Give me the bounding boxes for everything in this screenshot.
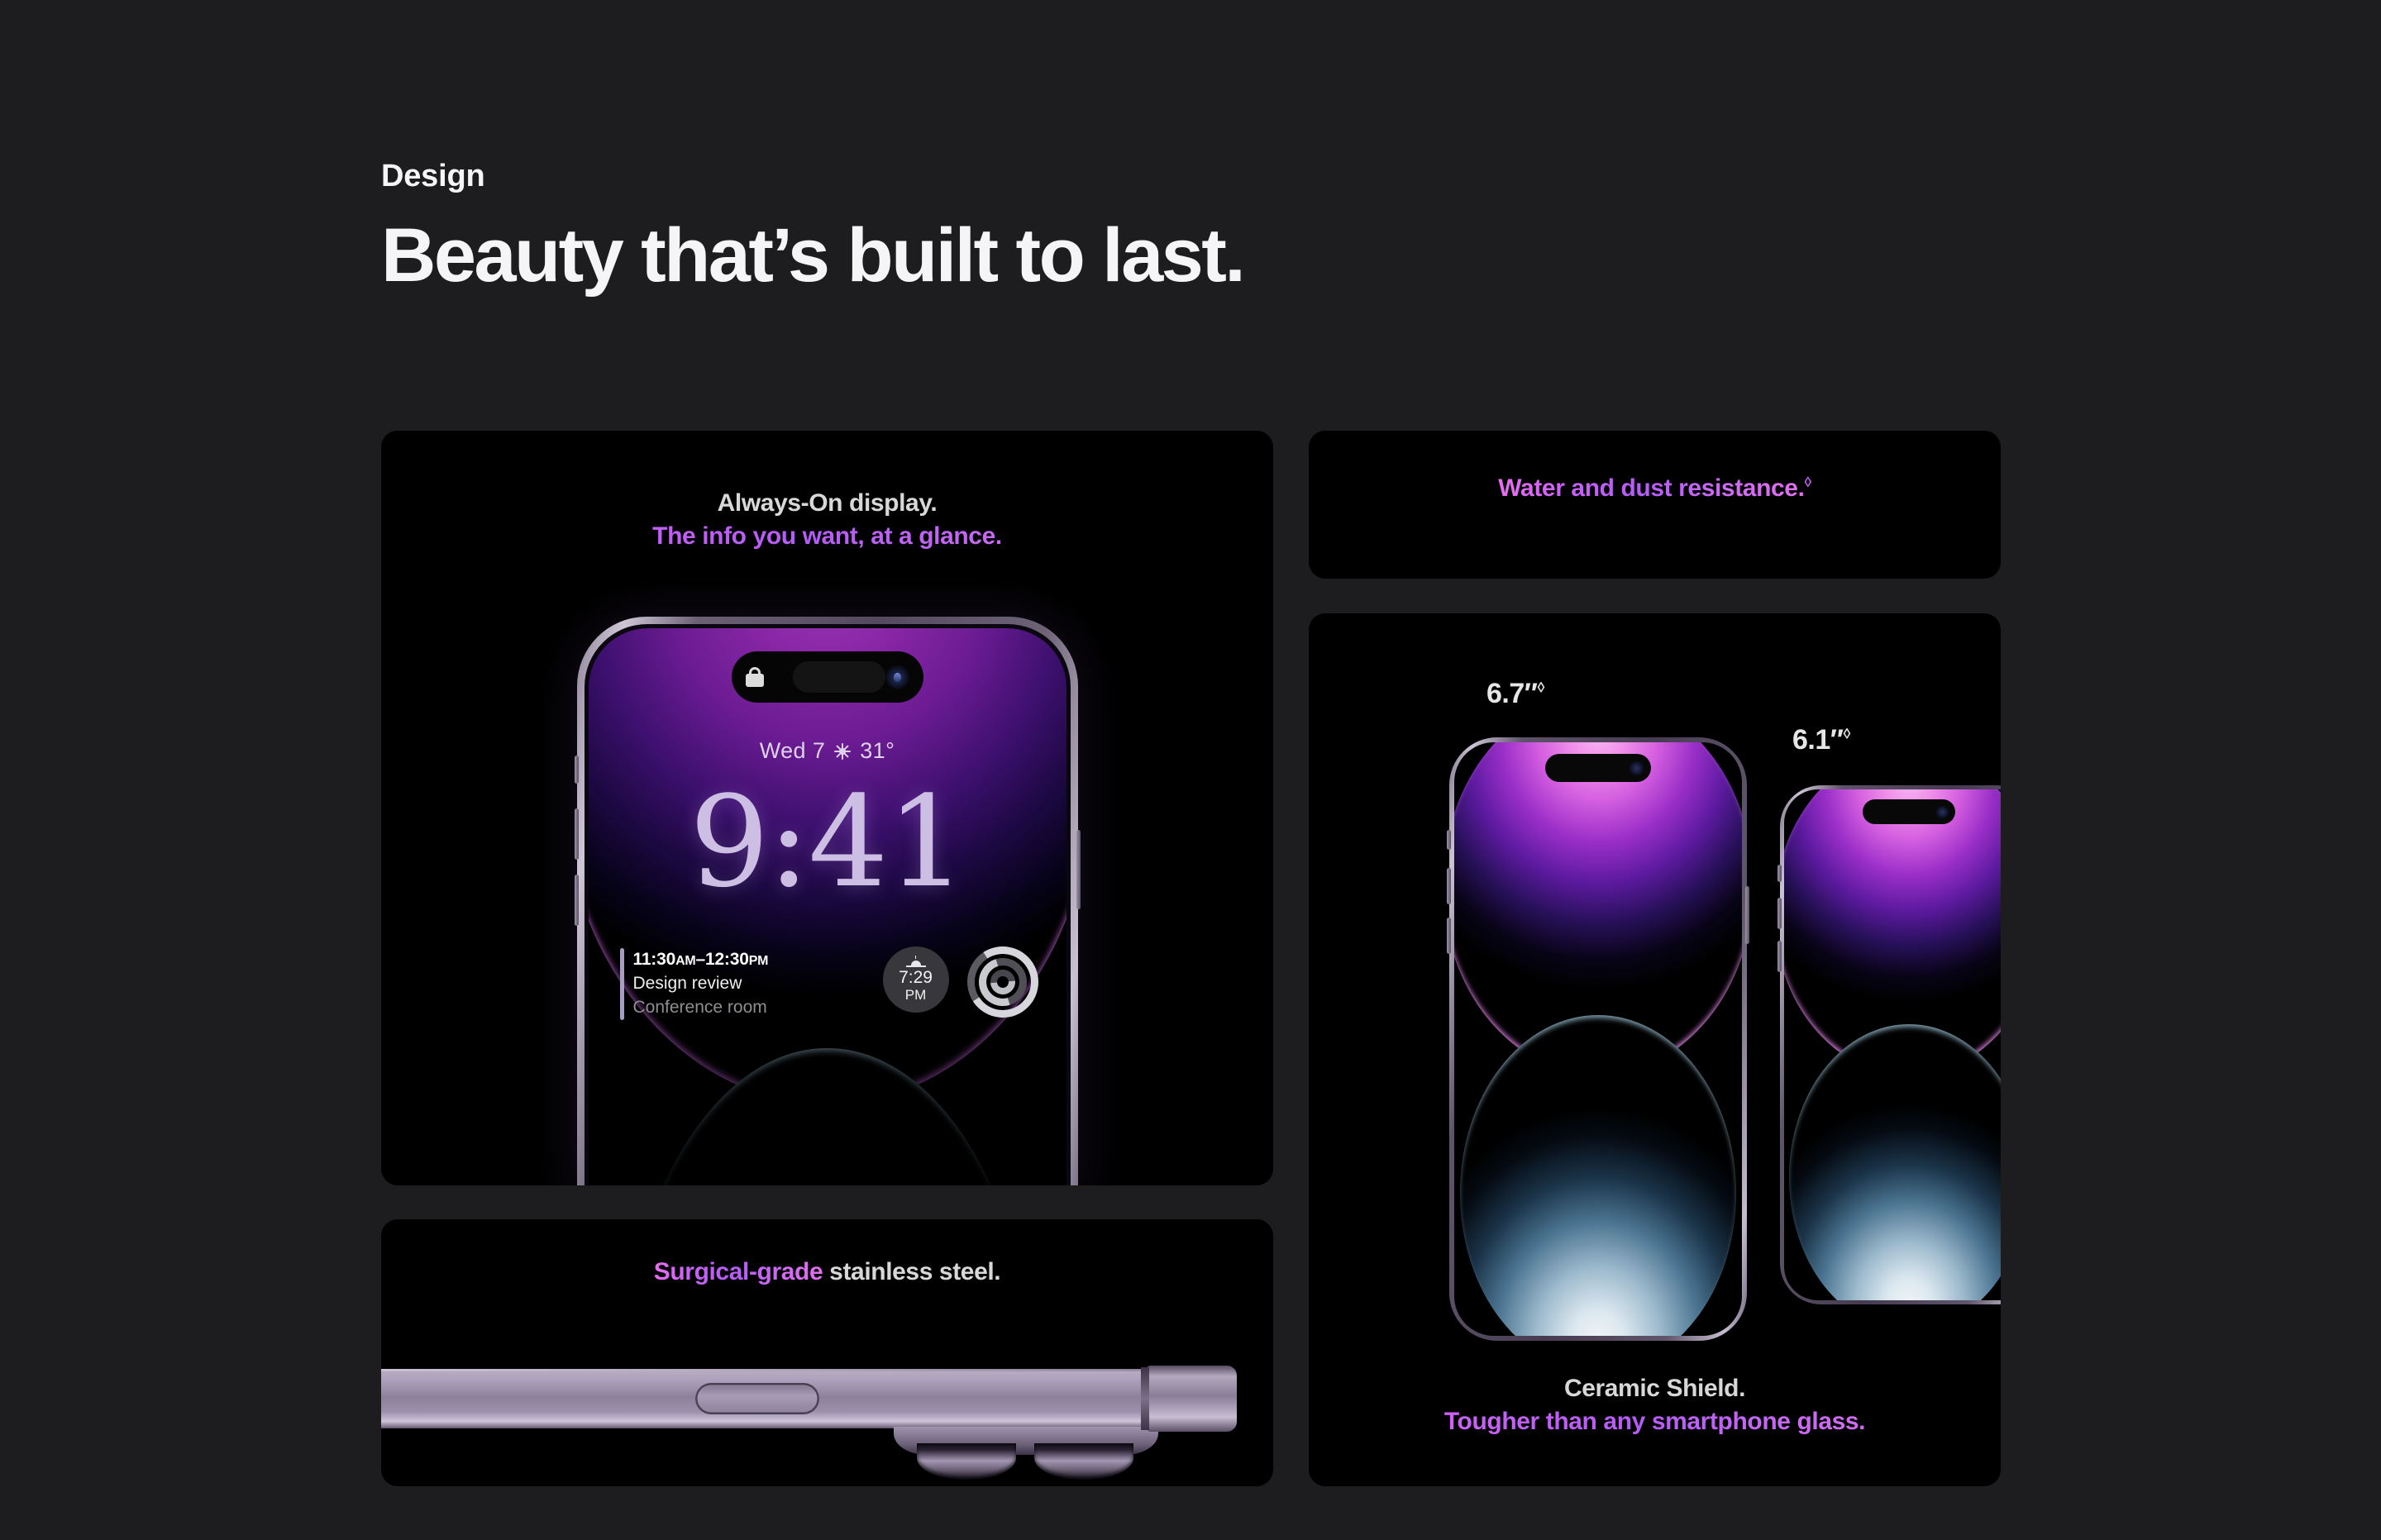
ceramic-shield-caption: Ceramic Shield. Tougher than any smartph… xyxy=(1309,1372,2001,1438)
phone-volume-up-button xyxy=(1777,898,1782,929)
wallpaper-light-dome xyxy=(1460,1015,1736,1336)
phone-display xyxy=(1454,742,1742,1336)
stainless-steel-caption-purple: Surgical-grade xyxy=(654,1258,823,1285)
lock-icon xyxy=(746,667,764,687)
ceramic-shield-caption-line1: Ceramic Shield. xyxy=(1309,1372,2001,1405)
phone-volume-down-button xyxy=(1447,918,1451,954)
iphone-mockup-always-on: Wed 7 31° 9:41 11:30AM–12:30PM Design re… xyxy=(577,617,1078,1185)
phone-volume-up-button xyxy=(575,808,579,860)
event-color-bar xyxy=(620,948,624,1020)
event-title: Design review xyxy=(633,972,769,996)
volume-button-detail xyxy=(695,1383,819,1414)
activity-rings-icon[interactable] xyxy=(967,946,1038,1018)
stainless-steel-caption-white: stainless steel. xyxy=(823,1258,1000,1285)
card-always-on-display[interactable]: Always-On display. The info you want, at… xyxy=(381,431,1273,1185)
front-camera-icon xyxy=(1936,806,1949,818)
lockscreen-temperature: 31° xyxy=(860,738,895,764)
footnote-marker-large: ◊ xyxy=(1538,679,1544,696)
phone-corner-edge xyxy=(1146,1366,1237,1432)
water-dust-caption-text: Water and dust resistance. xyxy=(1498,474,1804,502)
always-on-caption-line2: The info you want, at a glance. xyxy=(381,520,1273,553)
sunset-icon xyxy=(905,956,927,967)
iphone-side-profile-image xyxy=(381,1329,1273,1486)
lockscreen-clock: 9:41 xyxy=(589,763,1066,922)
phone-mute-switch xyxy=(1777,865,1782,882)
size-label-small: 6.1″◊ xyxy=(1792,724,1850,756)
wallpaper-light-dome xyxy=(1789,1024,2001,1300)
phone-mute-switch xyxy=(1447,830,1451,850)
dynamic-island xyxy=(1863,799,1955,824)
phone-volume-down-button xyxy=(1777,941,1782,972)
camera-lens-2 xyxy=(1034,1443,1133,1480)
lockscreen-date: Wed 7 xyxy=(760,738,826,764)
sunset-widget[interactable]: 7:29 PM xyxy=(883,946,949,1013)
phone-bezel xyxy=(1454,742,1742,1336)
phone-bezel xyxy=(1784,789,2001,1300)
phone-bezel: Wed 7 31° 9:41 11:30AM–12:30PM Design re… xyxy=(585,624,1071,1185)
front-camera-icon xyxy=(885,665,909,689)
water-dust-caption: Water and dust resistance.◊ xyxy=(1309,472,2001,505)
lock-screen: Wed 7 31° 9:41 11:30AM–12:30PM Design re… xyxy=(589,628,1066,1185)
phone-side-button xyxy=(1076,830,1081,909)
phone-mute-switch xyxy=(575,756,579,784)
phone-volume-down-button xyxy=(575,875,579,926)
sun-icon xyxy=(834,743,851,760)
event-location: Conference room xyxy=(633,996,769,1020)
phone-side-button xyxy=(1745,886,1749,944)
always-on-caption-line1: Always-On display. xyxy=(381,487,1273,520)
event-time: 11:30AM–12:30PM xyxy=(633,950,769,969)
card-ceramic-shield[interactable]: 6.7″◊ 6.1″◊ xyxy=(1309,613,2001,1486)
calendar-event-widget[interactable]: 11:30AM–12:30PM Design review Conference… xyxy=(620,946,865,1020)
size-label-large: 6.7″◊ xyxy=(1486,678,1544,710)
front-camera-icon xyxy=(1629,761,1644,775)
always-on-caption: Always-On display. The info you want, at… xyxy=(381,487,1273,553)
page-header: Design Beauty that’s built to last. xyxy=(381,160,1243,295)
section-eyebrow: Design xyxy=(381,160,1243,194)
camera-lens-1 xyxy=(917,1443,1016,1480)
iphone-pro-mockup xyxy=(1780,785,2001,1304)
card-water-dust-resistance[interactable]: Water and dust resistance.◊ xyxy=(1309,431,2001,579)
stainless-steel-caption: Surgical-grade stainless steel. xyxy=(381,1256,1273,1289)
footnote-marker-small: ◊ xyxy=(1844,726,1850,742)
lockscreen-widgets-row: 11:30AM–12:30PM Design review Conference… xyxy=(620,946,1038,1020)
sunset-meridiem: PM xyxy=(905,987,927,1004)
iphone-pro-max-mockup xyxy=(1449,737,1747,1341)
dynamic-island xyxy=(1545,754,1651,782)
lockscreen-date-weather: Wed 7 31° xyxy=(589,738,1066,764)
phone-volume-up-button xyxy=(1447,868,1451,904)
phone-display xyxy=(1784,789,2001,1300)
ceramic-shield-caption-line2: Tougher than any smartphone glass. xyxy=(1309,1405,2001,1438)
dynamic-island xyxy=(732,651,923,703)
card-stainless-steel[interactable]: Surgical-grade stainless steel. xyxy=(381,1219,1273,1486)
footnote-marker: ◊ xyxy=(1805,474,1811,490)
page-title: Beauty that’s built to last. xyxy=(381,216,1243,296)
sunset-time: 7:29 xyxy=(899,968,933,988)
dynamic-island-pill xyxy=(793,661,885,693)
